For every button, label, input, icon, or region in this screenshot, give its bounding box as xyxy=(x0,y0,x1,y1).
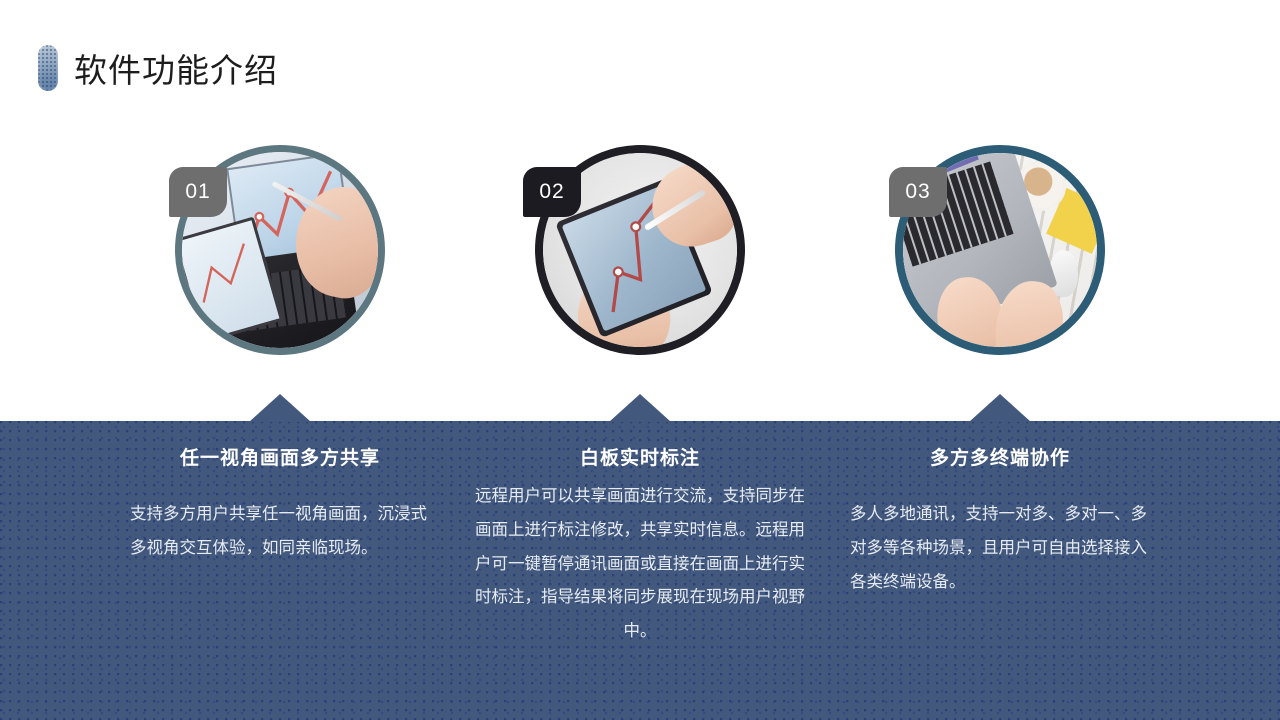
feature-title-3: 多方多终端协作 xyxy=(820,443,1180,470)
feature-number-badge-1: 01 xyxy=(169,167,227,217)
panel-notch-1 xyxy=(249,394,311,422)
feature-number-badge-3: 03 xyxy=(889,167,947,217)
panel-notch-3 xyxy=(969,394,1031,422)
feature-title-1: 任一视角画面多方共享 xyxy=(100,443,460,470)
feature-image-row: 01 02 xyxy=(0,0,1280,420)
feature-number-badge-2: 02 xyxy=(523,167,581,217)
panel-notch-2 xyxy=(609,394,671,422)
feature-text-3: 多方多终端协作 多人多地通讯，支持一对多、多对一、多对多等各种场景，且用户可自由… xyxy=(820,443,1180,599)
feature-text-row: 任一视角画面多方共享 支持多方用户共享任一视角画面，沉浸式多视角交互体验，如同亲… xyxy=(0,421,1280,720)
feature-title-2: 白板实时标注 xyxy=(460,443,820,470)
feature-body-3: 多人多地通讯，支持一对多、多对一、多对多等各种场景，且用户可自由选择接入各类终端… xyxy=(820,498,1180,599)
feature-card-1[interactable]: 01 xyxy=(175,145,385,355)
feature-text-1: 任一视角画面多方共享 支持多方用户共享任一视角画面，沉浸式多视角交互体验，如同亲… xyxy=(100,443,460,566)
feature-text-2: 白板实时标注 远程用户可以共享画面进行交流，支持同步在画面上进行标注修改，共享实… xyxy=(460,443,820,649)
feature-card-2[interactable]: 02 xyxy=(535,145,745,355)
feature-body-2: 远程用户可以共享画面进行交流，支持同步在画面上进行标注修改，共享实时信息。远程用… xyxy=(460,480,820,649)
feature-description-panel: 任一视角画面多方共享 支持多方用户共享任一视角画面，沉浸式多视角交互体验，如同亲… xyxy=(0,421,1280,720)
feature-card-3[interactable]: 03 xyxy=(895,145,1105,355)
feature-body-1: 支持多方用户共享任一视角画面，沉浸式多视角交互体验，如同亲临现场。 xyxy=(100,498,460,566)
